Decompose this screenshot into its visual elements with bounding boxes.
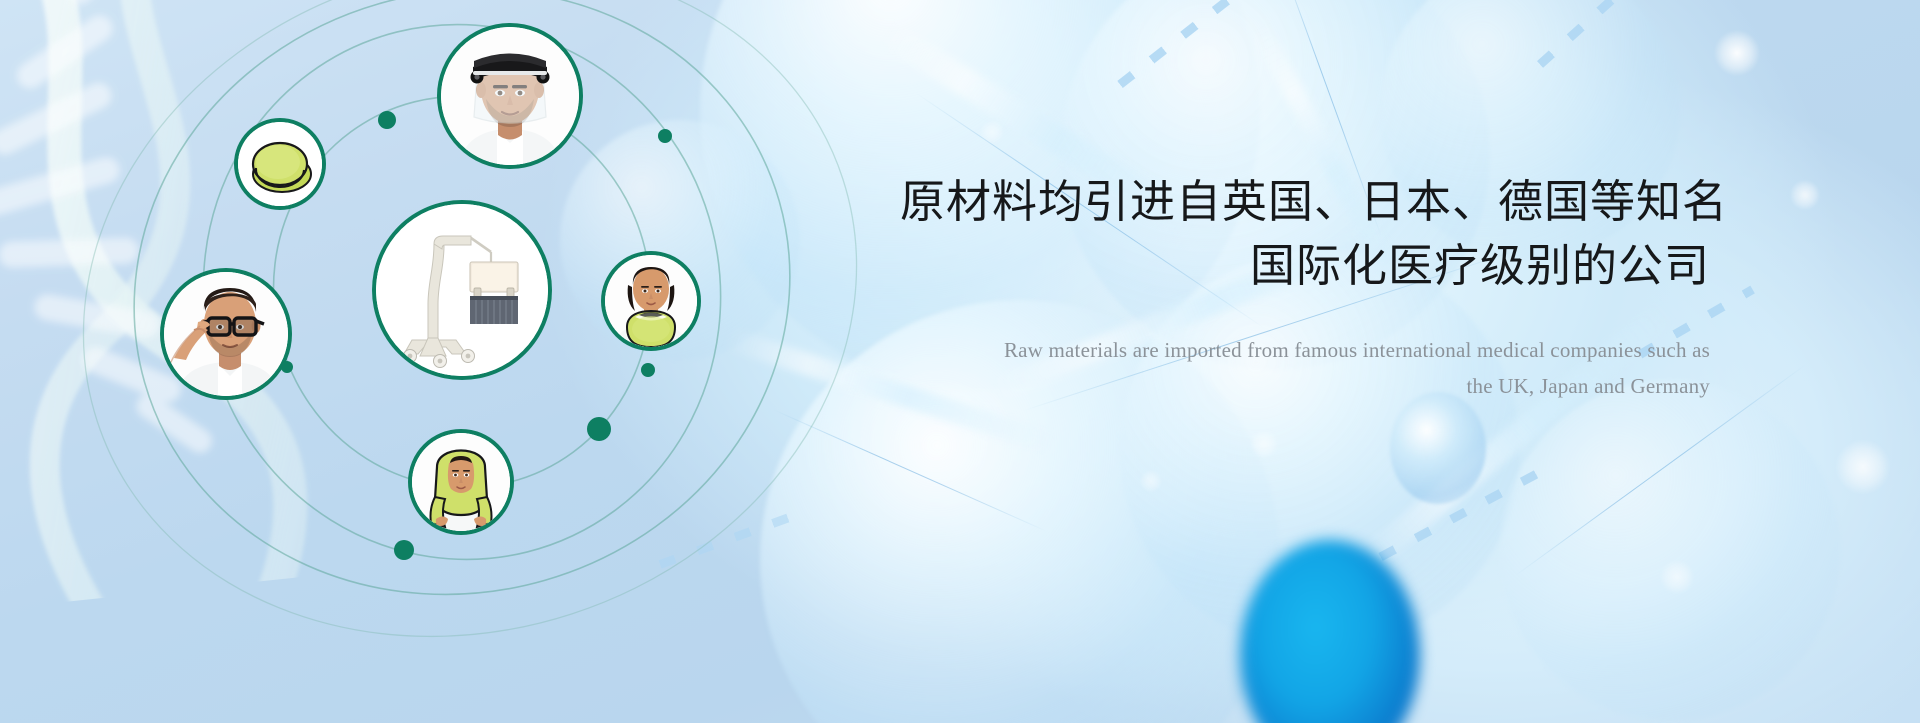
headline-line-1: 原材料均引进自英国、日本、德国等知名 [900, 176, 1728, 227]
product-circle-lead-hood[interactable] [412, 433, 510, 531]
product-circle-face-shield[interactable] [441, 27, 579, 165]
product-circle-lead-glasses[interactable] [164, 272, 288, 396]
headline-line-2: 国际化医疗级别的公司 [900, 234, 1710, 298]
accent-dot [587, 417, 611, 441]
lead-head-hood-woman-photo [412, 433, 510, 531]
page-subtitle: Raw materials are imported from famous i… [900, 332, 1710, 404]
accent-dot [378, 111, 396, 129]
product-circle-thyroid-collar[interactable] [605, 255, 697, 347]
page-title: 原材料均引进自英国、日本、德国等知名 国际化医疗级别的公司 [900, 170, 1710, 298]
accent-dot [281, 361, 293, 373]
product-circle-lead-cap[interactable] [238, 122, 322, 206]
accent-dot [658, 129, 672, 143]
lead-glasses-man-photo [164, 272, 288, 396]
accent-dot [641, 363, 655, 377]
thyroid-collar-woman-photo [605, 255, 697, 347]
mobile-radiation-barrier-stand-photo [376, 204, 548, 376]
product-circle-mobile-barrier[interactable] [376, 204, 548, 376]
lead-radiation-cap-icon [238, 122, 322, 206]
x-ray-face-shield-man-photo [441, 27, 579, 165]
banner-stage: 原材料均引进自英国、日本、德国等知名 国际化医疗级别的公司 Raw materi… [0, 0, 1920, 723]
subtitle-line-2: the UK, Japan and Germany [900, 368, 1710, 404]
banner-text-block: 原材料均引进自英国、日本、德国等知名 国际化医疗级别的公司 Raw materi… [900, 170, 1710, 404]
accent-dot [394, 540, 414, 560]
subtitle-line-1: Raw materials are imported from famous i… [1004, 338, 1710, 362]
pale-sphere-node [1390, 392, 1486, 504]
